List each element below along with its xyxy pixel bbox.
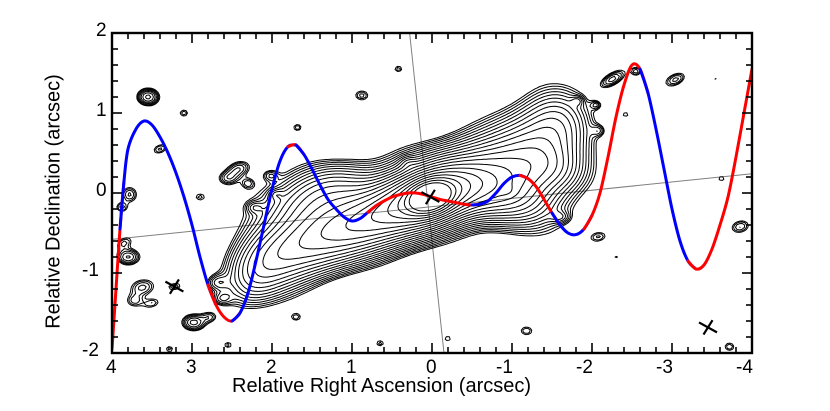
x-axis-title: Relative Right Ascension (arcsec)	[232, 375, 531, 398]
y-tick-label: 2	[96, 20, 107, 42]
x-tick-label: 4	[106, 357, 117, 379]
y-tick-label: 1	[96, 100, 107, 122]
x-tick-label: 3	[186, 357, 197, 379]
y-tick-label: -1	[82, 260, 99, 282]
x-tick-label: -4	[736, 357, 753, 379]
x-tick-label: -2	[576, 357, 593, 379]
contour-line	[715, 79, 716, 80]
radio-contour-figure: Relative Right Ascension (arcsec) Relati…	[0, 0, 830, 411]
y-tick-label: -2	[82, 340, 99, 362]
x-tick-label: 2	[266, 357, 277, 379]
plot-canvas	[0, 0, 830, 411]
x-tick-label: 0	[426, 357, 437, 379]
x-tick-label: -1	[496, 357, 513, 379]
y-tick-label: 0	[96, 180, 107, 202]
y-axis-title: Relative Declination (arcsec)	[43, 52, 66, 352]
figure-background	[0, 0, 830, 411]
contour-line	[615, 256, 618, 257]
x-tick-label: -3	[656, 357, 673, 379]
x-tick-label: 1	[346, 357, 357, 379]
